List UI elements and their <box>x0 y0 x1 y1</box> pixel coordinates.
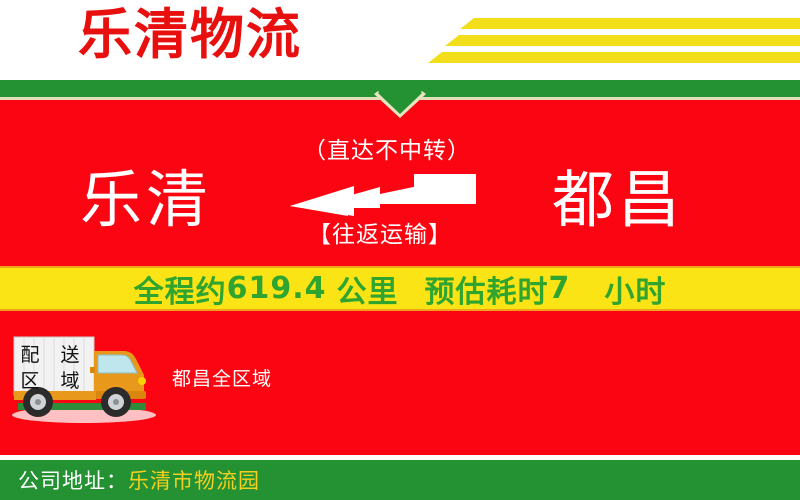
stripe-3 <box>428 52 800 63</box>
duration-value: 7 <box>549 271 571 306</box>
double-arrow-icon <box>288 172 478 218</box>
banner-footer: 公司地址： 乐清市物流园 <box>0 460 800 500</box>
svg-text:区: 区 <box>20 370 39 392</box>
svg-text:配: 配 <box>20 344 39 366</box>
distance-unit: 公里 <box>337 267 399 311</box>
company-address: 公司地址： 乐清市物流园 <box>18 460 260 500</box>
destination-city: 都昌 <box>552 168 684 232</box>
route-info-band: 全程约 619.4 公里 预估耗时 7 小时 <box>0 266 800 311</box>
route-info-text: 全程约 619.4 公里 预估耗时 7 小时 <box>0 266 800 311</box>
address-value: 乐清市物流园 <box>128 465 260 495</box>
stripe-2 <box>445 35 800 46</box>
route-note-bottom: 【往返运输】 <box>308 222 452 248</box>
delivery-truck-icon: 配 送 区 域 <box>8 329 160 425</box>
duration-unit: 小时 <box>604 267 666 311</box>
decorative-stripes <box>420 8 800 68</box>
chevron-down-icon <box>370 88 430 118</box>
delivery-panel: 配 送 区 域 <box>0 311 800 455</box>
origin-city: 乐清 <box>80 168 212 232</box>
distance-value: 619.4 <box>227 271 327 306</box>
company-logo-title: 乐清物流 <box>78 6 302 64</box>
svg-text:送: 送 <box>60 344 79 366</box>
coverage-area-text: 都昌全区域 <box>172 368 272 390</box>
route-note-top: （直达不中转） <box>303 138 471 164</box>
stripe-1 <box>460 18 800 29</box>
route-panel: 乐清 （直达不中转） 【往返运输】 都昌 <box>0 100 800 266</box>
duration-label: 预估耗时 <box>425 267 549 311</box>
address-label: 公司地址： <box>18 465 128 495</box>
svg-text:域: 域 <box>60 370 79 392</box>
logistics-banner: 乐清物流 乐清 （直达不中转） 【往返运输 <box>0 0 800 500</box>
distance-label: 全程约 <box>134 267 227 311</box>
banner-header: 乐清物流 <box>0 0 800 80</box>
